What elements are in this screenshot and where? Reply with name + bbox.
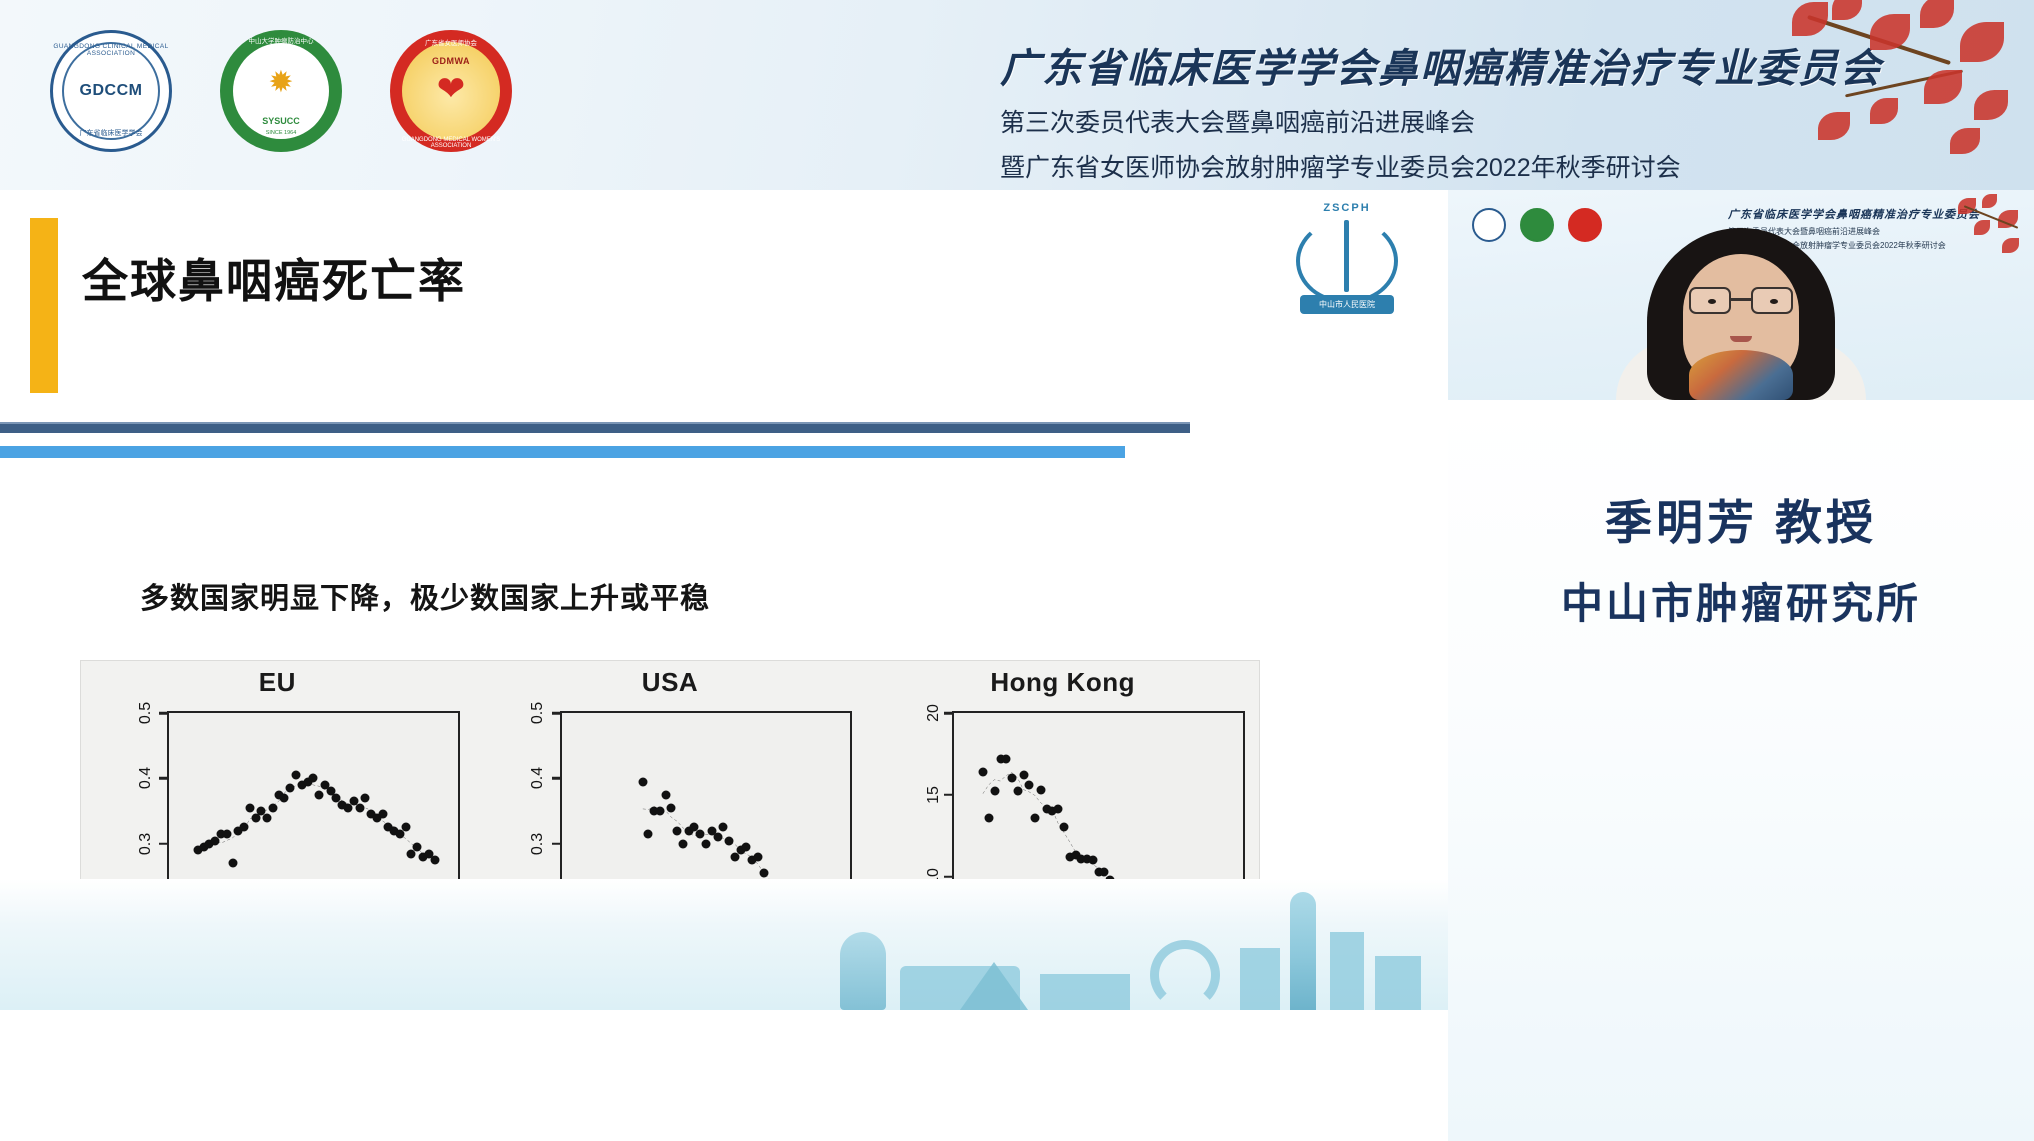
chart-data-point <box>240 823 249 832</box>
title-divider-dark <box>0 422 1190 433</box>
chart-data-point <box>1036 785 1045 794</box>
banner-logo-group: GUANGDONG CLINICAL MEDICAL ASSOCIATION G… <box>50 30 512 152</box>
chart-data-point <box>1008 774 1017 783</box>
gdccm-logo-abbr: GDCCM <box>53 82 169 100</box>
speaker-scarf <box>1689 350 1793 400</box>
gdmwa-logo: 广东省女医师协会 GDMWA ❤ GUANGDONG MEDICAL WOMEN… <box>390 30 512 152</box>
chart-y-tick-label: 15 <box>925 786 955 804</box>
title-divider-light <box>0 446 1125 458</box>
chart-data-point <box>655 807 664 816</box>
sysucc-logo-since: SINCE 1964 <box>220 130 342 136</box>
chart-data-point <box>413 843 422 852</box>
sysucc-logo-abbr: SYSUCC <box>220 116 342 126</box>
chart-y-tick-label: 0.4 <box>527 769 561 787</box>
video-banner-logo-group <box>1472 208 1602 242</box>
video-banner-line1: 广东省临床医学学会鼻咽癌精准治疗专业委员会 <box>1728 206 1980 222</box>
chart-title: EU <box>81 667 474 698</box>
heart-icon: ❤ <box>390 72 512 106</box>
chart-data-point <box>753 852 762 861</box>
chart-data-point <box>1054 805 1063 814</box>
chart-data-point <box>702 839 711 848</box>
chart-data-point <box>1088 856 1097 865</box>
chart-data-point <box>228 859 237 868</box>
video-gdccm-logo <box>1472 208 1506 242</box>
chart-y-tick-label: 0.5 <box>527 704 561 722</box>
chart-data-point <box>759 869 768 878</box>
chart-data-point <box>361 794 370 803</box>
conference-banner: GUANGDONG CLINICAL MEDICAL ASSOCIATION G… <box>0 0 2034 190</box>
chart-data-point <box>742 843 751 852</box>
chart-data-point <box>222 829 231 838</box>
chart-data-point <box>719 823 728 832</box>
chart-data-point <box>725 836 734 845</box>
chart-data-point <box>1025 780 1034 789</box>
chart-data-point <box>644 829 653 838</box>
chart-data-point <box>1031 813 1040 822</box>
title-accent-bar <box>30 218 58 393</box>
chart-data-point <box>268 803 277 812</box>
chart-data-point <box>1019 771 1028 780</box>
chart-y-tick-label: 20 <box>925 704 955 722</box>
speaker-mouth <box>1730 336 1752 342</box>
chart-data-point <box>401 823 410 832</box>
chart-data-point <box>286 784 295 793</box>
gdmwa-logo-abbr: GDMWA <box>390 56 512 66</box>
chart-data-point <box>1013 787 1022 796</box>
chart-data-point <box>979 767 988 776</box>
slide-subtitle: 多数国家明显下降，极少数国家上升或平稳 <box>140 575 710 617</box>
gdccm-logo: GUANGDONG CLINICAL MEDICAL ASSOCIATION G… <box>50 30 172 152</box>
chart-data-point <box>673 826 682 835</box>
city-skyline-decoration <box>0 879 1448 1010</box>
sysucc-logo-ring-top: 中山大学肿瘤防治中心 <box>220 35 342 45</box>
chart-title: Hong Kong <box>866 667 1259 698</box>
chart-data-point <box>245 803 254 812</box>
gdccm-logo-ring-top: GUANGDONG CLINICAL MEDICAL ASSOCIATION <box>53 43 169 57</box>
speaker-name: 季明芳 教授 <box>1448 484 2034 553</box>
chart-data-point <box>678 839 687 848</box>
chart-y-tick-label: 0.3 <box>527 835 561 853</box>
chart-y-tick-label: 0.5 <box>135 704 169 722</box>
speaker-panel: 广东省临床医学学会鼻咽癌精准治疗专业委员会 第三次委员代表大会暨鼻咽癌前沿进展峰… <box>1448 190 2034 1141</box>
chart-data-point <box>661 790 670 799</box>
zscph-logo: ZSCPH 中山市人民医院 <box>1288 198 1406 316</box>
chart-data-point <box>378 810 387 819</box>
chart-data-point <box>713 833 722 842</box>
chart-data-point <box>696 829 705 838</box>
chart-y-tick-label: 0.3 <box>135 835 169 853</box>
chart-data-point <box>667 803 676 812</box>
caduceus-icon <box>1344 220 1349 292</box>
chart-data-point <box>263 813 272 822</box>
banner-title-sub1: 第三次委员代表大会暨鼻咽癌前沿进展峰会 <box>1000 103 1882 139</box>
chart-data-point <box>355 803 364 812</box>
gdmwa-logo-ring-bottom: GUANGDONG MEDICAL WOMEN'S ASSOCIATION <box>390 137 512 149</box>
chart-data-point <box>280 794 289 803</box>
chart-data-point <box>292 771 301 780</box>
banner-text-block: 广东省临床医学学会鼻咽癌精准治疗专业委员会 第三次委员代表大会暨鼻咽癌前沿进展峰… <box>1000 36 1882 184</box>
speaker-info-card: 季明芳 教授 中山市肿瘤研究所 <box>1448 400 2034 1141</box>
chart-data-point <box>315 790 324 799</box>
chart-data-point <box>1060 823 1069 832</box>
screen-root: GUANGDONG CLINICAL MEDICAL ASSOCIATION G… <box>0 0 2034 1141</box>
chart-data-point <box>309 774 318 783</box>
chart-data-point <box>430 856 439 865</box>
eyeglasses-icon <box>1689 287 1793 314</box>
video-plum-blossom-icon <box>1952 192 2032 264</box>
slide-title: 全球鼻咽癌死亡率 <box>82 245 466 311</box>
chart-data-point <box>984 813 993 822</box>
video-sysucc-logo <box>1520 208 1554 242</box>
chart-data-point <box>1002 754 1011 763</box>
banner-title-sub2: 暨广东省女医师协会放射肿瘤学专业委员会2022年秋季研讨会 <box>1000 148 1882 184</box>
gdccm-logo-ring-bottom: 广东省临床医学学会 <box>53 128 169 138</box>
zscph-logo-abbr: ZSCPH <box>1288 202 1406 214</box>
chart-data-point <box>638 777 647 786</box>
speaker-video-feed[interactable]: 广东省临床医学学会鼻咽癌精准治疗专业委员会 第三次委员代表大会暨鼻咽癌前沿进展峰… <box>1448 190 2034 400</box>
banner-title-main: 广东省临床医学学会鼻咽癌精准治疗专业委员会 <box>1000 36 1882 94</box>
wing-icon: ✹ <box>220 68 342 98</box>
video-gdmwa-logo <box>1568 208 1602 242</box>
chart-title: USA <box>474 667 867 698</box>
zscph-logo-banner: 中山市人民医院 <box>1300 295 1394 314</box>
chart-data-point <box>990 787 999 796</box>
speaker-portrait <box>1606 228 1876 400</box>
presentation-slide: 全球鼻咽癌死亡率 ZSCPH 中山市人民医院 多数国家明显下降，极少数国家上升或… <box>0 190 1448 1010</box>
speaker-organization: 中山市肿瘤研究所 <box>1448 570 2034 631</box>
chart-y-tick-label: 0.4 <box>135 769 169 787</box>
gdmwa-logo-ring-top: 广东省女医师协会 <box>390 37 512 47</box>
sysucc-logo: 中山大学肿瘤防治中心 ✹ SYSUCC SINCE 1964 <box>220 30 342 152</box>
